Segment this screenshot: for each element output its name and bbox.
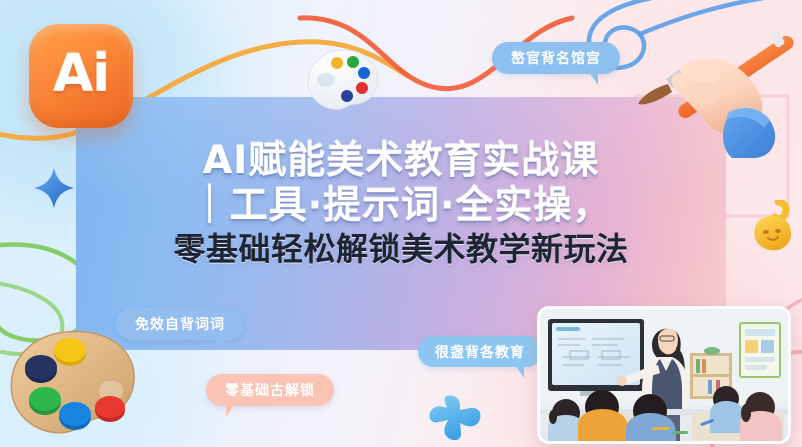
plus-cross-shape-icon (424, 392, 486, 442)
white-paint-palette-icon (304, 46, 382, 112)
badge-tail-icon (215, 338, 224, 351)
ai-logo-label: Ai (53, 44, 109, 104)
classroom-photo-image (540, 309, 788, 441)
headline-line-2: ｜工具·提示词·全实操， (0, 182, 802, 228)
badge-bottom-left[interactable]: 零基础古解锁 (206, 374, 334, 406)
headline-line-3: 零基础轻松解锁美术教学新玩法 (0, 228, 802, 270)
badge-tail-icon (226, 404, 235, 417)
badge-tail-icon (589, 72, 598, 85)
hand-holding-paintbrush-icon (628, 8, 802, 158)
badge-middle-left-label: 免效自背词词 (135, 314, 225, 334)
ai-logo-icon: Ai (29, 24, 133, 128)
badge-bottom-left-label: 零基础古解锁 (225, 380, 315, 400)
badge-top-right-label: 嶅官背名馆宫 (511, 48, 601, 68)
classroom-photo (537, 306, 791, 444)
badge-bottom-center-label: 很盏背各教育 (435, 342, 525, 362)
wooden-paint-palette-icon (4, 326, 140, 444)
badge-top-right[interactable]: 嶅官背名馆宫 (492, 42, 620, 74)
promo-poster: AI赋能美术教育实战课 ｜工具·提示词·全实操， 零基础轻松解锁美术教学新玩法 … (0, 0, 802, 447)
badge-tail-icon (515, 365, 524, 378)
badge-bottom-center[interactable]: 很盏背各教育 (418, 336, 542, 367)
